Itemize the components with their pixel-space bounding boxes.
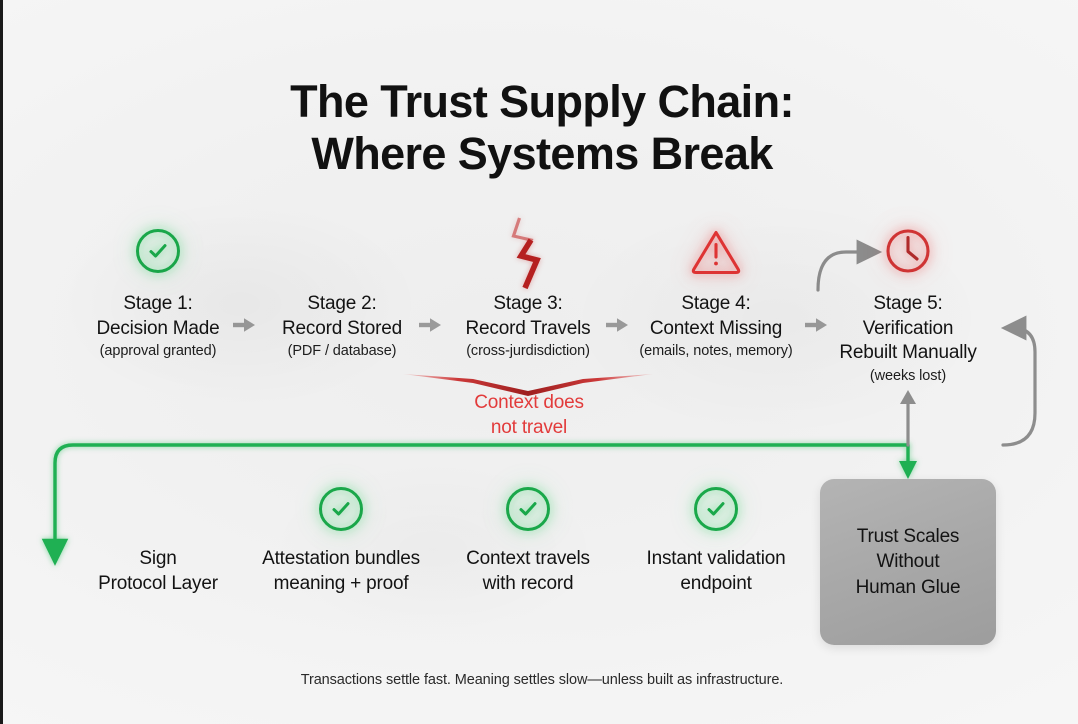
stage-3: Stage 3: Record Travels (cross-jurdisdic… [447, 226, 609, 359]
diagram-canvas: The Trust Supply Chain: Where Systems Br… [0, 0, 1078, 724]
stage-1-icon-wrap [75, 226, 241, 276]
solution-1-icon-wrap [75, 486, 241, 532]
check-circle-icon [319, 487, 363, 531]
stage-4-title-line-1: Stage 4: [621, 292, 811, 317]
solution-instant-validation: Instant validation endpoint [623, 486, 809, 596]
stage-4: Stage 4: Context Missing (emails, notes,… [621, 226, 811, 359]
stage-2-subtitle: (PDF / database) [261, 343, 423, 359]
arrow-right-icon [231, 316, 257, 334]
stage-1: Stage 1: Decision Made (approval granted… [75, 226, 241, 359]
solution-3-icon-wrap [447, 486, 609, 532]
outcome-line-3: Human Glue [856, 575, 961, 601]
green-down-arrow-icon [899, 445, 917, 479]
check-circle-icon [136, 229, 180, 273]
warning-triangle-icon [689, 227, 743, 275]
stage-4-icon-wrap [621, 226, 811, 276]
stage-1-title-line-1: Stage 1: [75, 292, 241, 317]
stage-connector-2 [417, 316, 443, 339]
annotation-line-2: not travel [407, 415, 651, 440]
stage-5-subtitle: (weeks lost) [817, 368, 999, 384]
title-line-1: The Trust Supply Chain: [290, 76, 794, 127]
stage-5-title-line-1: Stage 5: [817, 292, 999, 317]
stage-5: Stage 5: Verification Rebuilt Manually (… [817, 226, 999, 384]
stage-connector-1 [231, 316, 257, 339]
solution-4-line-2: endpoint [623, 571, 809, 596]
lightning-bolt-icon [501, 216, 555, 290]
check-circle-icon [506, 487, 550, 531]
stage-2-title-line-2: Record Stored [261, 317, 423, 342]
stage-2-title-line-1: Stage 2: [261, 292, 423, 317]
solution-2-line-1: Attestation bundles [245, 546, 437, 571]
solution-sign-protocol-layer: Sign Protocol Layer [75, 486, 241, 596]
clock-icon [884, 227, 932, 275]
check-circle-icon [694, 487, 738, 531]
footer-caption: Transactions settle fast. Meaning settle… [3, 672, 1078, 688]
stage-3-title-line-2: Record Travels [447, 317, 609, 342]
solution-2-line-2: meaning + proof [245, 571, 437, 596]
solution-2-icon-wrap [245, 486, 437, 532]
gray-up-arrow-icon [900, 390, 916, 445]
stage-2: Stage 2: Record Stored (PDF / database) [261, 226, 423, 359]
stage-1-title-line-2: Decision Made [75, 317, 241, 342]
annotation-line-1: Context does [407, 390, 651, 415]
solution-3-line-2: with record [447, 571, 609, 596]
solution-attestation-bundles: Attestation bundles meaning + proof [245, 486, 437, 596]
page-title: The Trust Supply Chain: Where Systems Br… [3, 76, 1078, 180]
solution-1-line-2: Protocol Layer [75, 571, 241, 596]
stage-3-icon-wrap [447, 226, 609, 276]
outcome-line-1: Trust Scales [856, 524, 961, 550]
gray-return-loop-arrow [1003, 328, 1035, 445]
stage-3-title-line-1: Stage 3: [447, 292, 609, 317]
stage-5-title-line-2: Verification [817, 317, 999, 342]
solution-1-line-1: Sign [75, 546, 241, 571]
context-annotation: Context does not travel [407, 390, 651, 440]
solution-context-travels: Context travels with record [447, 486, 609, 596]
stage-4-title-line-2: Context Missing [621, 317, 811, 342]
stage-4-subtitle: (emails, notes, memory) [621, 343, 811, 359]
stage-5-title-line-3: Rebuilt Manually [817, 341, 999, 366]
stage-5-icon-wrap [817, 226, 999, 276]
stage-2-icon-wrap [261, 226, 423, 276]
arrow-right-icon [417, 316, 443, 334]
title-line-2: Where Systems Break [3, 128, 1078, 180]
outcome-text: Trust Scales Without Human Glue [856, 524, 961, 601]
solution-4-line-1: Instant validation [623, 546, 809, 571]
outcome-line-2: Without [856, 549, 961, 575]
stage-1-subtitle: (approval granted) [75, 343, 241, 359]
outcome-box: Trust Scales Without Human Glue [820, 479, 996, 645]
solution-4-icon-wrap [623, 486, 809, 532]
stage-3-subtitle: (cross-jurdisdiction) [447, 343, 609, 359]
solution-3-line-1: Context travels [447, 546, 609, 571]
